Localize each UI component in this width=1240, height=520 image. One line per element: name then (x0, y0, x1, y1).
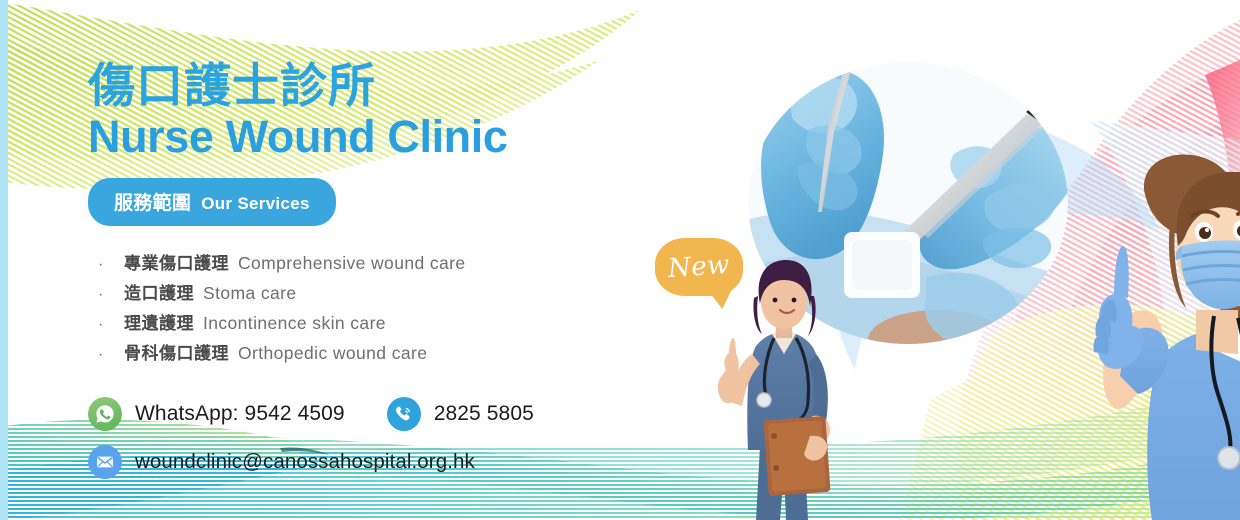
phone-icon (387, 397, 421, 431)
service-list: · 專業傷口護理 Comprehensive wound care · 造口護理… (88, 250, 648, 367)
nurse-pointing-illustration (712, 250, 862, 520)
contact-row-primary: WhatsApp: 9542 4509 2825 5805 (88, 397, 648, 431)
new-badge-label: New (667, 250, 731, 284)
our-services-badge: 服務範圍Our Services (88, 178, 336, 226)
list-item: · 造口護理 Stoma care (88, 280, 648, 308)
page-title-en: Nurse Wound Clinic (88, 113, 648, 160)
phone-contact[interactable]: 2825 5805 (387, 397, 534, 431)
service-label-zh: 骨科傷口護理 (124, 341, 229, 367)
email-address: woundclinic@canossahospital.org.hk (135, 450, 475, 474)
new-badge-bubble: New (655, 238, 743, 296)
service-label-zh: 理遺護理 (124, 311, 194, 337)
contact-block: WhatsApp: 9542 4509 2825 5805 (88, 397, 648, 479)
our-services-badge-zh: 服務範圍 (114, 193, 191, 214)
mail-icon (88, 445, 122, 479)
masked-nurse-illustration (1086, 150, 1240, 520)
service-label-zh: 專業傷口護理 (124, 251, 229, 277)
service-label-en: Comprehensive wound care (238, 250, 466, 277)
bullet-icon: · (88, 253, 124, 278)
whatsapp-icon (88, 397, 122, 431)
list-item: · 專業傷口護理 Comprehensive wound care (88, 250, 648, 278)
service-label-en: Orthopedic wound care (238, 340, 427, 367)
whatsapp-contact[interactable]: WhatsApp: 9542 4509 (88, 397, 345, 431)
page-title-zh: 傷口護士診所 (88, 62, 648, 111)
email-contact[interactable]: woundclinic@canossahospital.org.hk (88, 445, 475, 479)
list-item: · 骨科傷口護理 Orthopedic wound care (88, 340, 648, 368)
service-label-en: Stoma care (203, 280, 296, 307)
bullet-icon: · (88, 283, 124, 308)
bullet-icon: · (88, 313, 124, 338)
service-label-en: Incontinence skin care (203, 310, 386, 337)
bullet-icon: · (88, 343, 124, 368)
left-edge-strip (0, 0, 8, 520)
our-services-badge-en: Our Services (201, 194, 310, 213)
banner-root: New (0, 0, 1240, 520)
list-item: · 理遺護理 Incontinence skin care (88, 310, 648, 338)
whatsapp-number: WhatsApp: 9542 4509 (135, 402, 345, 426)
service-label-zh: 造口護理 (124, 281, 194, 307)
phone-number: 2825 5805 (434, 402, 534, 426)
content-column: 傷口護士診所 Nurse Wound Clinic 服務範圍Our Servic… (88, 62, 648, 493)
contact-row-email: woundclinic@canossahospital.org.hk (88, 445, 648, 479)
